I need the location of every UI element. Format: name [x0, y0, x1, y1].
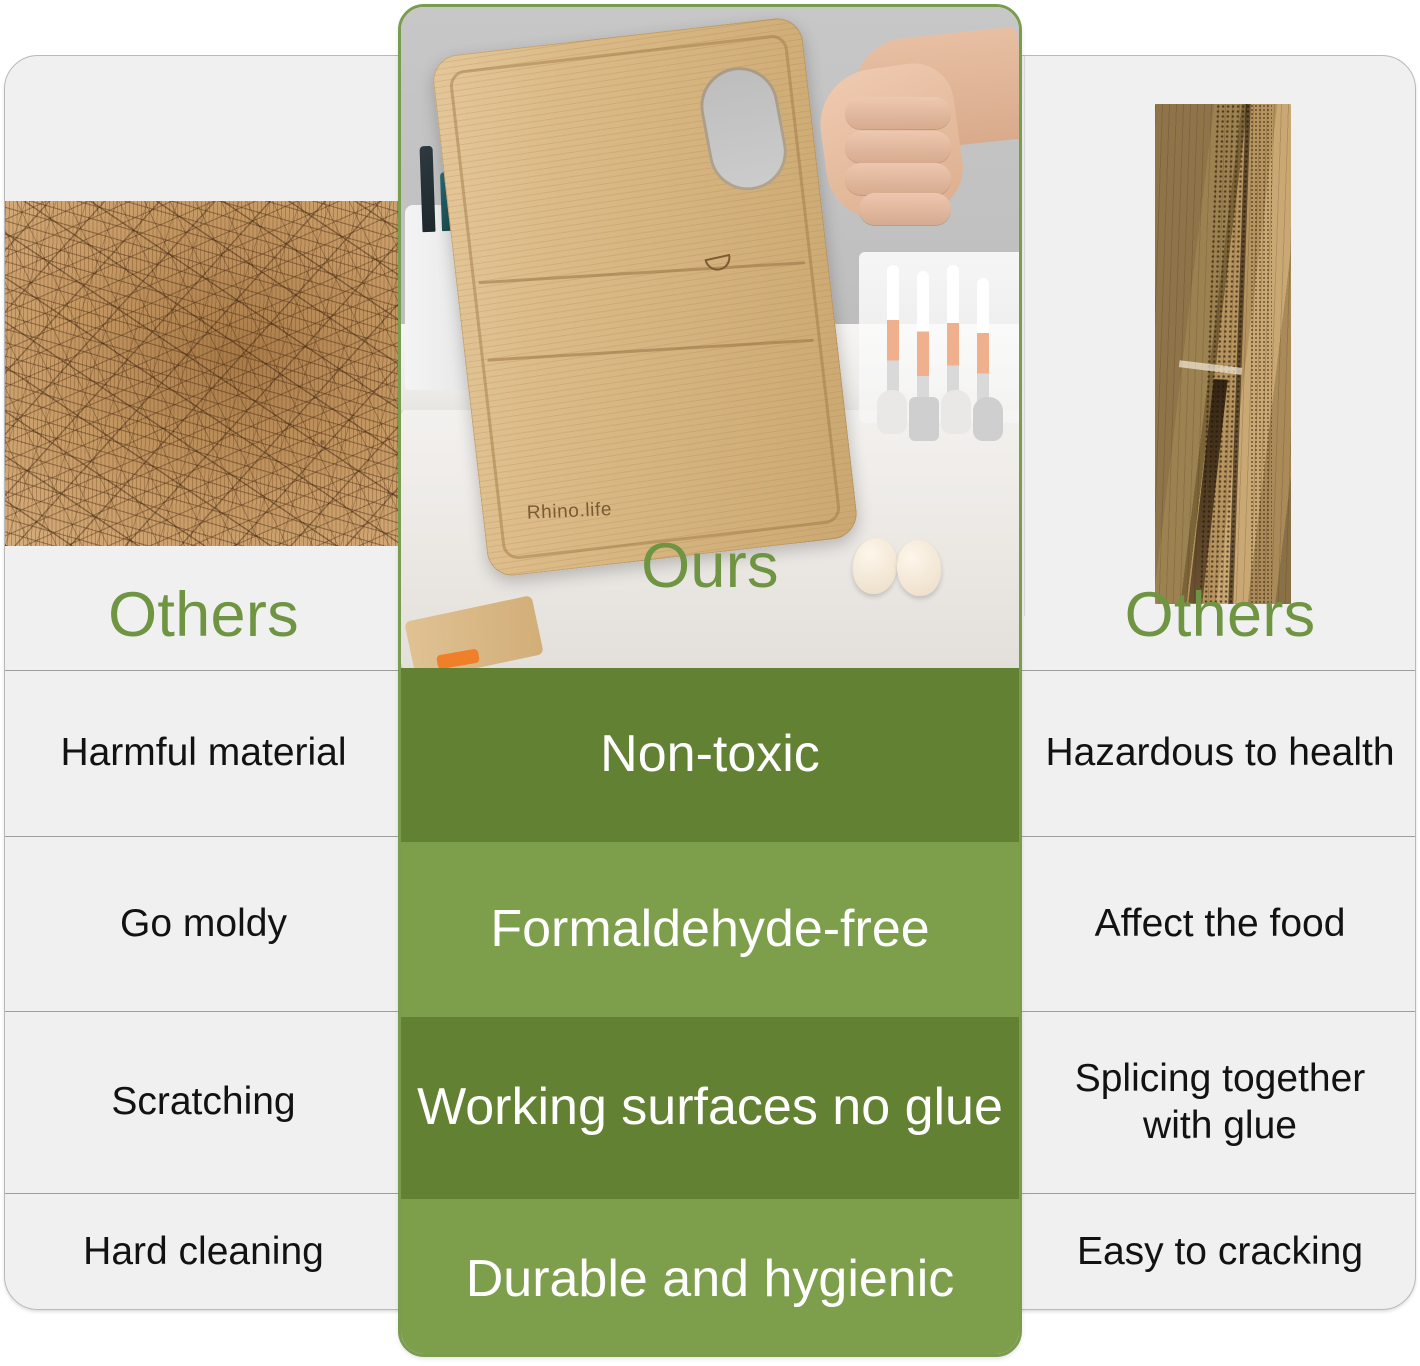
others-column-left: Others Harmful material Go moldy Scratch…: [5, 56, 402, 1309]
others-right-cell-0: Hazardous to health: [1023, 671, 1416, 836]
others-right-cell-2-label: Splicing together with glue: [1043, 1056, 1397, 1148]
others-left-cell-2: Scratching: [5, 1012, 402, 1193]
board-juice-groove: [448, 33, 842, 560]
others-right-cell-0-label: Hazardous to health: [1045, 730, 1394, 776]
others-left-cell-0-label: Harmful material: [60, 730, 346, 776]
others-left-cell-2-label: Scratching: [111, 1079, 295, 1125]
others-left-cell-3-label: Hard cleaning: [83, 1229, 324, 1275]
others-left-header-label: Others: [108, 584, 299, 647]
others-column-right: Others Hazardous to health Affect the fo…: [1023, 56, 1416, 1309]
ours-column: Rhino.life Ours Non-toxic Formaldehyde: [398, 4, 1022, 1357]
scratched-board-photo: [5, 201, 402, 546]
utensil-head-turner: [909, 397, 939, 441]
finger: [845, 163, 951, 195]
others-left-cell-0: Harmful material: [5, 671, 402, 836]
others-left-cell-3: Hard cleaning: [5, 1194, 402, 1310]
others-left-cell-1: Go moldy: [5, 837, 402, 1011]
ours-cell-0: Non-toxic: [401, 668, 1019, 842]
ours-cell-1-label: Formaldehyde-free: [490, 901, 929, 958]
others-right-cell-1: Affect the food: [1023, 837, 1416, 1011]
utensil-head-ladle: [941, 390, 971, 434]
others-left-cell-1-label: Go moldy: [120, 901, 287, 947]
finger: [845, 131, 951, 163]
ours-cell-2-label: Working surfaces no glue: [417, 1079, 1003, 1136]
ours-cell-3-label: Durable and hygienic: [466, 1251, 955, 1308]
brand-engraving: Rhino.life: [526, 499, 612, 525]
finger: [845, 97, 951, 129]
others-left-header: Others: [5, 561, 402, 669]
others-right-cell-2: Splicing together with glue: [1023, 1012, 1416, 1193]
comparison-infographic: Others Harmful material Go moldy Scratch…: [0, 0, 1420, 1366]
ours-cell-3: Durable and hygienic: [401, 1199, 1019, 1357]
others-right-cell-3-label: Easy to cracking: [1077, 1229, 1363, 1275]
others-right-header: Others: [1023, 561, 1416, 669]
ours-product-photo: Rhino.life Ours: [401, 7, 1019, 668]
others-right-cell-3: Easy to cracking: [1023, 1194, 1416, 1310]
ours-cell-0-label: Non-toxic: [600, 726, 820, 783]
utensil-head-spoon: [877, 390, 907, 434]
cracked-bamboo-photo: [1155, 104, 1291, 604]
ours-cell-1: Formaldehyde-free: [401, 842, 1019, 1017]
ours-cell-2: Working surfaces no glue: [401, 1017, 1019, 1199]
bamboo-pores-texture-secondary: [1250, 104, 1272, 604]
utensil-head-spatula: [973, 397, 1003, 441]
hand-holding-board: [795, 31, 1013, 231]
utensil-handle: [887, 265, 899, 410]
others-right-cell-1-label: Affect the food: [1095, 901, 1346, 947]
others-right-header-label: Others: [1125, 584, 1316, 647]
finger: [859, 193, 951, 225]
